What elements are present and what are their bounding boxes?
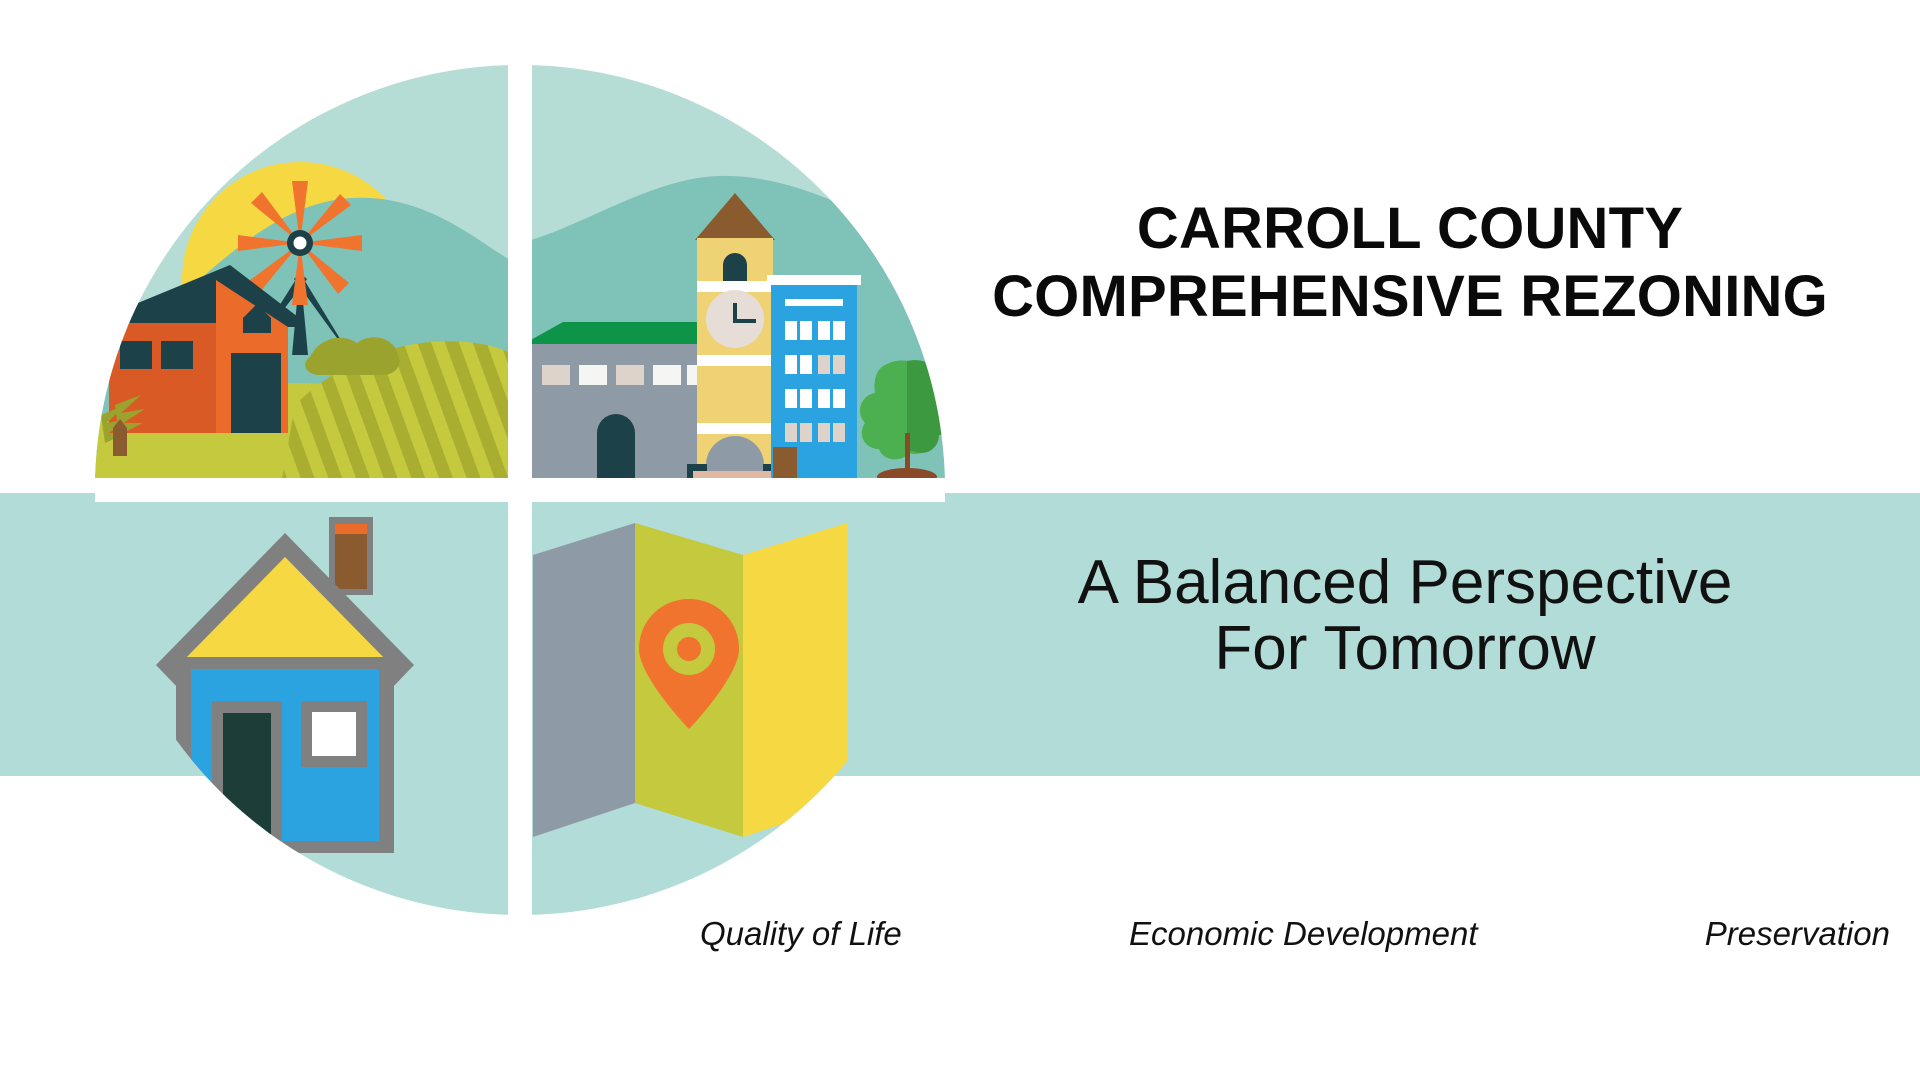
tagline-row: Quality of Life Economic Development Pre… <box>700 915 1890 953</box>
clock-tower <box>687 193 783 490</box>
subtitle-line-1: A Balanced Perspective <box>940 550 1870 616</box>
quadrant-illustration <box>95 65 945 915</box>
tagline-item-preservation: Preservation <box>1705 915 1890 953</box>
tagline-item-economic-development: Economic Development <box>1129 915 1478 953</box>
folded-map-icon <box>533 523 847 837</box>
page-title: CARROLL COUNTY COMPREHENSIVE REZONING <box>960 195 1860 332</box>
house-quadrant <box>95 490 520 915</box>
poster-canvas: CARROLL COUNTY COMPREHENSIVE REZONING A … <box>0 0 1920 1080</box>
title-line-2: COMPREHENSIVE REZONING <box>960 263 1860 331</box>
farm-scene <box>95 65 520 490</box>
horizontal-divider <box>95 478 945 502</box>
map-quadrant <box>520 490 945 915</box>
page-subtitle: A Balanced Perspective For Tomorrow <box>940 550 1870 683</box>
subtitle-line-2: For Tomorrow <box>940 616 1870 682</box>
civic-building <box>520 322 701 490</box>
title-line-1: CARROLL COUNTY <box>960 195 1860 263</box>
town-scene <box>520 65 945 490</box>
office-building <box>767 275 861 490</box>
tagline-item-quality-of-life: Quality of Life <box>700 915 902 953</box>
